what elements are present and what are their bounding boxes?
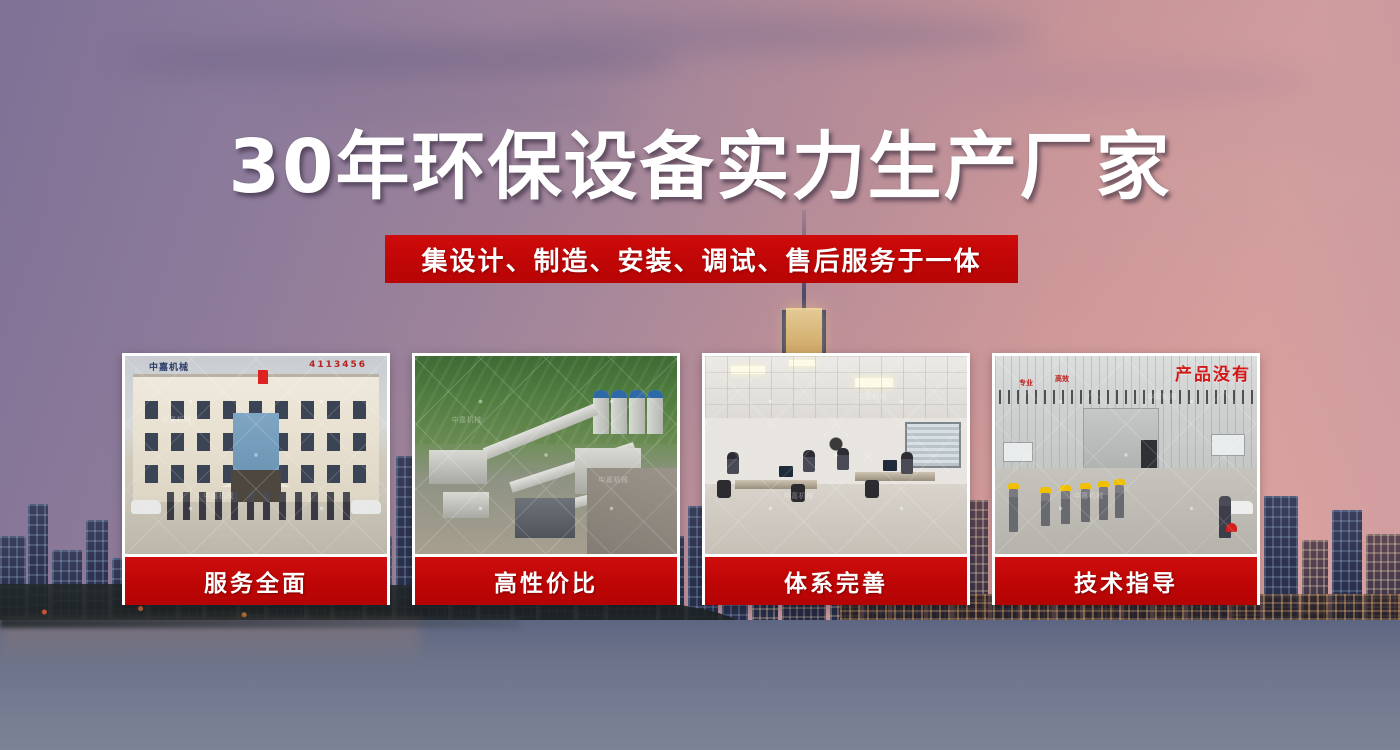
aerial-industrial-plant-photo: 中嘉机械 中嘉机械: [415, 356, 677, 554]
card-label: 服务全面: [125, 557, 387, 605]
watermark-text: 中嘉机械: [1147, 392, 1177, 402]
feature-card[interactable]: 产品没有 专业 高效 中嘉机械 中嘉机械: [992, 353, 1260, 605]
subtitle-bar: 集设计、制造、安装、调试、售后服务于一体: [385, 235, 1018, 283]
feature-card-list: 中嘉机械 4113456 中嘉机械 中嘉机械 服务全面: [122, 353, 1260, 605]
promo-banner: 30年环保设备实力生产厂家 集设计、制造、安装、调试、售后服务于一体 中嘉机械 …: [0, 0, 1400, 750]
office-interior-photo: 中嘉机械 中嘉机械: [705, 356, 967, 554]
company-office-building-photo: 中嘉机械 4113456 中嘉机械 中嘉机械: [125, 356, 387, 554]
watermark-text: 中嘉机械: [452, 415, 482, 425]
subtitle-text: 集设计、制造、安装、调试、售后服务于一体: [421, 241, 981, 278]
cloud-shape: [900, 62, 1320, 102]
card-label: 高性价比: [415, 557, 677, 605]
watermark-text: 中嘉机械: [1074, 491, 1104, 501]
page-title: 30年环保设备实力生产厂家: [0, 130, 1400, 204]
card-label-text: 体系完善: [784, 564, 888, 598]
watermark-text: 中嘉机械: [857, 392, 887, 402]
watermark-text: 中嘉机械: [162, 415, 192, 425]
card-label: 技术指导: [995, 557, 1257, 605]
river-water: [0, 620, 1400, 750]
cloud-shape: [520, 18, 1040, 52]
feature-card[interactable]: 中嘉机械 中嘉机械 体系完善: [702, 353, 970, 605]
cloud-shape: [260, 96, 640, 122]
watermark-text: 中嘉机械: [598, 475, 628, 485]
card-label-text: 服务全面: [204, 564, 308, 598]
worker-training-photo: 产品没有 专业 高效 中嘉机械 中嘉机械: [995, 356, 1257, 554]
card-label-text: 技术指导: [1074, 564, 1178, 598]
feature-card[interactable]: 中嘉机械 中嘉机械 高性价比: [412, 353, 680, 605]
feature-card[interactable]: 中嘉机械 4113456 中嘉机械 中嘉机械 服务全面: [122, 353, 390, 605]
watermark-text: 中嘉机械: [204, 491, 234, 501]
card-label-text: 高性价比: [494, 564, 598, 598]
card-label: 体系完善: [705, 557, 967, 605]
watermark-text: 中嘉机械: [784, 491, 814, 501]
